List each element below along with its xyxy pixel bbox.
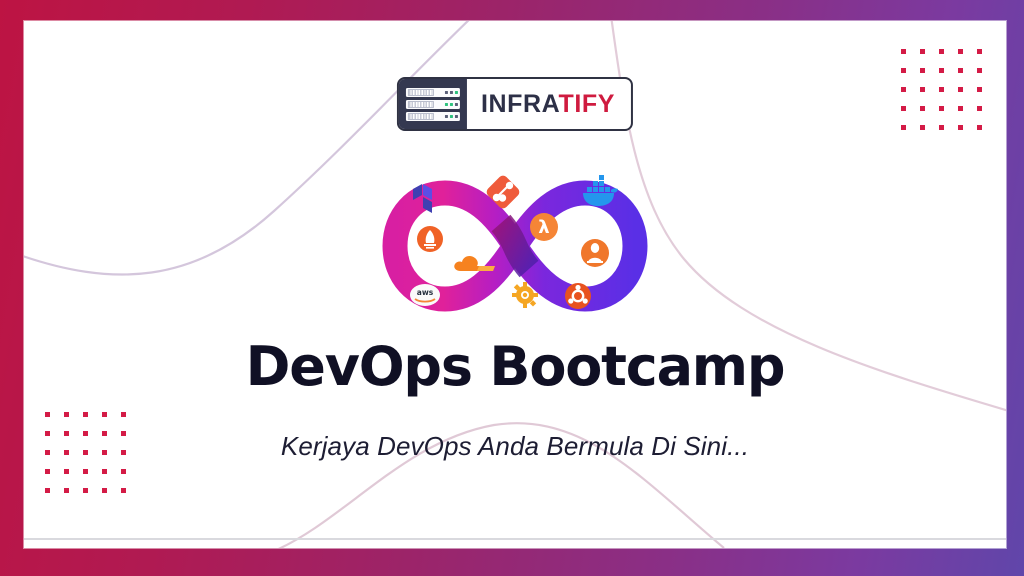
server-rack-icon [399, 79, 467, 129]
decorative-dot [901, 106, 906, 111]
decorative-dot [958, 106, 963, 111]
svg-text:λ: λ [538, 217, 549, 238]
rack-slots [408, 101, 434, 108]
decorative-dot [920, 49, 925, 54]
decorative-dot [958, 87, 963, 92]
decorative-dot [977, 125, 982, 130]
decorative-dot [977, 87, 982, 92]
rack-unit [406, 100, 460, 109]
decorative-dot [121, 412, 126, 417]
slide-inner-card: INFRATIFY [24, 21, 1006, 548]
rack-led [450, 91, 453, 94]
rack-leds [445, 115, 458, 118]
decorative-dot [977, 106, 982, 111]
decorative-dot [939, 49, 944, 54]
decorative-dot [939, 68, 944, 73]
devops-infinity-loop: aws λ [375, 171, 655, 321]
card-right-edge [981, 21, 1006, 548]
rack-led-active [445, 103, 448, 106]
rack-led [445, 91, 448, 94]
decorative-dot [45, 412, 50, 417]
bottom-caption: ········· ············ ······ ········· … [24, 540, 1006, 548]
ubuntu-icon [565, 283, 591, 309]
rack-led-active [450, 115, 453, 118]
apache-icon [417, 226, 443, 252]
decorative-dot [45, 469, 50, 474]
rack-slots [408, 113, 434, 120]
rack-led-active [450, 103, 453, 106]
decorative-dot [64, 412, 69, 417]
infratify-logo[interactable]: INFRATIFY [397, 77, 633, 131]
decorative-dot [920, 87, 925, 92]
dot-grid-top-right [901, 49, 982, 130]
rack-led-active [455, 91, 458, 94]
decorative-dot [958, 68, 963, 73]
decorative-dot [83, 469, 88, 474]
page-subtitle: Kerjaya DevOps Anda Bermula Di Sini... [24, 431, 1006, 462]
decorative-dot [121, 469, 126, 474]
decorative-dot [977, 49, 982, 54]
decorative-dot [901, 87, 906, 92]
logo-wordmark-accent: TIFY [558, 90, 615, 118]
decorative-dot [45, 488, 50, 493]
decorative-dot [939, 125, 944, 130]
decorative-dot [102, 469, 107, 474]
rack-led [455, 103, 458, 106]
decorative-dot [901, 125, 906, 130]
decorative-dot [102, 412, 107, 417]
decorative-dot [83, 488, 88, 493]
decorative-dot [920, 68, 925, 73]
aws-icon: aws [410, 284, 440, 306]
decorative-dot [939, 87, 944, 92]
decorative-dot [102, 488, 107, 493]
decorative-dot [920, 125, 925, 130]
slide-canvas: INFRATIFY [0, 0, 1024, 576]
jenkins-icon [581, 239, 609, 267]
svg-text:aws: aws [417, 288, 434, 297]
decorative-dot [958, 125, 963, 130]
page-title: DevOps Bootcamp [24, 339, 1006, 396]
card-left-edge [24, 21, 36, 548]
decorative-dot [64, 488, 69, 493]
rack-unit [406, 112, 460, 121]
decorative-dot [977, 68, 982, 73]
logo-wordmark: INFRATIFY [467, 92, 631, 117]
rack-unit [406, 88, 460, 97]
decorative-dot [83, 412, 88, 417]
lambda-icon: λ [530, 213, 558, 241]
decorative-dot [920, 106, 925, 111]
decorative-dot [901, 68, 906, 73]
rack-led [445, 115, 448, 118]
decorative-dot [64, 469, 69, 474]
rack-leds [445, 91, 458, 94]
rack-leds [445, 103, 458, 106]
decorative-dot [939, 106, 944, 111]
decorative-dot [901, 49, 906, 54]
decorative-dot [958, 49, 963, 54]
rack-slots [408, 89, 434, 96]
logo-wordmark-primary: INFRA [481, 90, 559, 118]
rack-led [455, 115, 458, 118]
decorative-dot [121, 488, 126, 493]
bottom-caption-text: ········· ············ ······ ········· … [427, 544, 603, 548]
